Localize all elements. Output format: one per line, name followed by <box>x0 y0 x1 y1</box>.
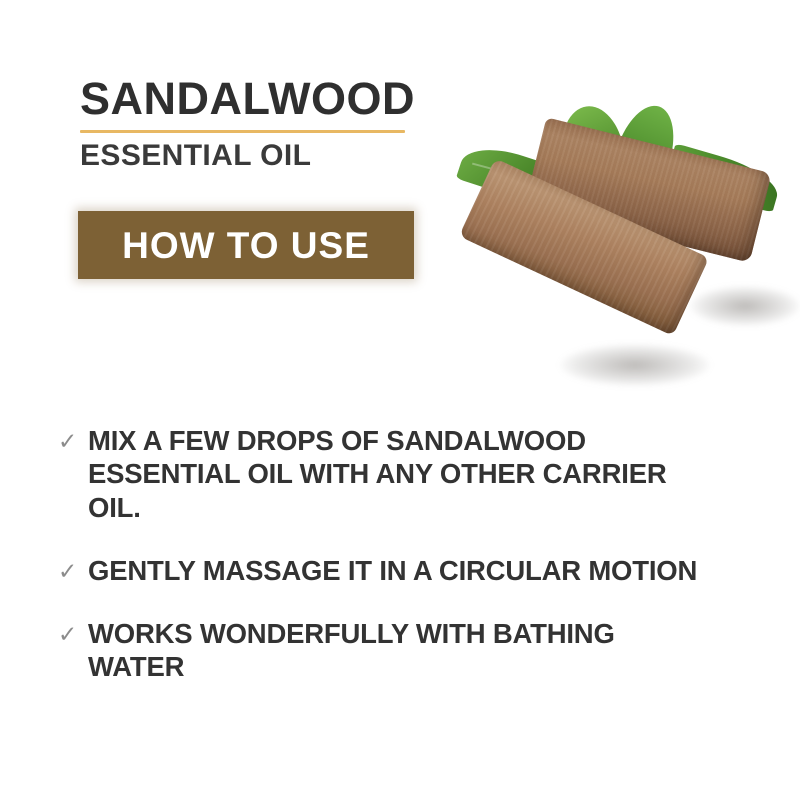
product-title-block: SANDALWOOD ESSENTIAL OIL <box>80 76 420 171</box>
wood-log-shadow-back <box>690 286 800 326</box>
instruction-text: MIX A FEW DROPS OF SANDALWOOD ESSENTIAL … <box>88 424 718 524</box>
check-icon: ✓ <box>58 424 88 453</box>
title-divider <box>80 130 405 133</box>
list-item: ✓ WORKS WONDERFULLY WITH BATHING WATER <box>58 617 748 684</box>
page-title: SANDALWOOD <box>80 76 420 121</box>
check-icon: ✓ <box>58 617 88 646</box>
sandalwood-product-image <box>440 96 800 416</box>
instruction-text: WORKS WONDERFULLY WITH BATHING WATER <box>88 617 718 684</box>
instruction-text: GENTLY MASSAGE IT IN A CIRCULAR MOTION <box>88 554 718 587</box>
sandalwood-how-to-use-poster: SANDALWOOD ESSENTIAL OIL HOW TO USE ✓ MI… <box>0 0 800 800</box>
instructions-list: ✓ MIX A FEW DROPS OF SANDALWOOD ESSENTIA… <box>58 424 748 714</box>
how-to-use-banner: HOW TO USE <box>78 211 414 279</box>
how-to-use-label: HOW TO USE <box>122 227 370 264</box>
list-item: ✓ MIX A FEW DROPS OF SANDALWOOD ESSENTIA… <box>58 424 748 524</box>
wood-log-shadow-front <box>560 344 710 386</box>
list-item: ✓ GENTLY MASSAGE IT IN A CIRCULAR MOTION <box>58 554 748 587</box>
page-subtitle: ESSENTIAL OIL <box>80 141 420 171</box>
check-icon: ✓ <box>58 554 88 583</box>
